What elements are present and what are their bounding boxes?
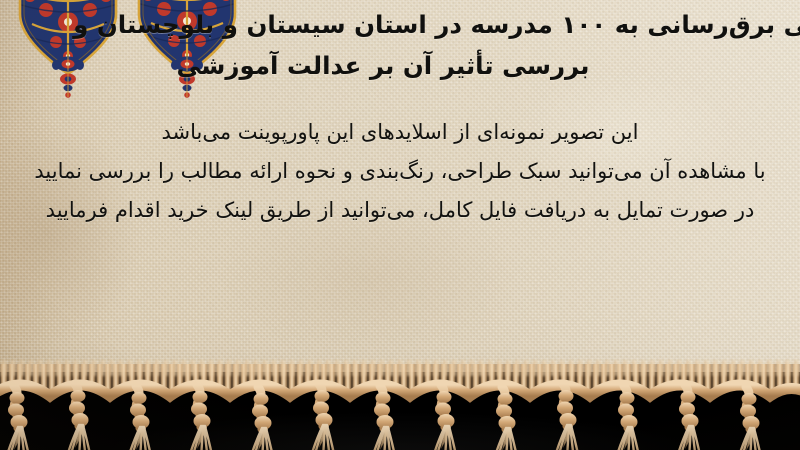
- slide-body: این تصویر نمونه‌ای از اسلایدهای این پاور…: [12, 113, 788, 230]
- body-line-2: با مشاهده آن می‌توانید سبک طراحی، رنگ‌بن…: [12, 152, 788, 191]
- presentation-slide: یابی برق‌رسانی به ۱۰۰ مدرسه در استان سیس…: [0, 0, 800, 450]
- body-line-1: این تصویر نمونه‌ای از اسلایدهای این پاور…: [12, 113, 788, 152]
- slide-title: یابی برق‌رسانی به ۱۰۰ مدرسه در استان سیس…: [0, 4, 800, 86]
- body-line-3: در صورت تمایل به دریافت فایل کامل، می‌تو…: [12, 191, 788, 230]
- carpet-fringe: [0, 354, 800, 450]
- fringe-knot-row: [0, 354, 800, 450]
- slide-title-line-1: یابی برق‌رسانی به ۱۰۰ مدرسه در استان سیس…: [0, 4, 800, 45]
- slide-title-line-2: بررسی تأثیر آن بر عدالت آموزشی: [0, 45, 800, 86]
